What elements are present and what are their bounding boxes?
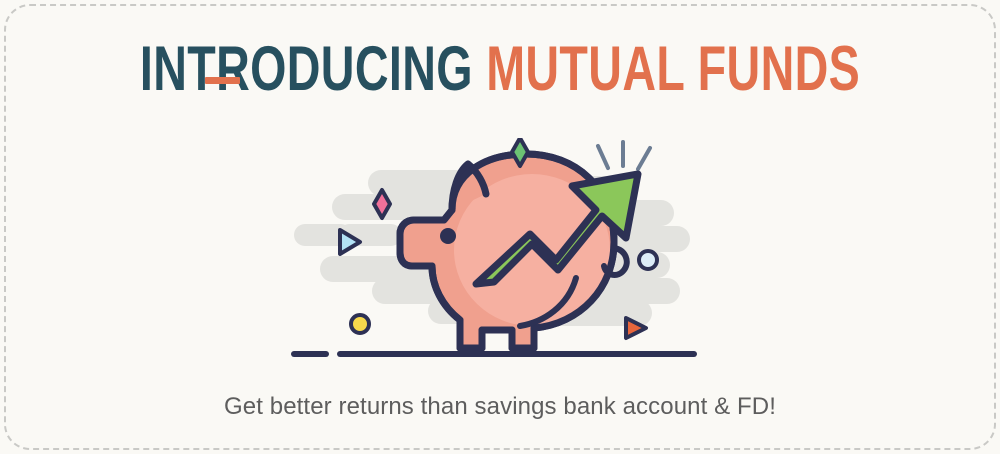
piggy-bank-illustration bbox=[276, 138, 724, 370]
mutual-funds-banner-card: INTRODUCINGMUTUAL FUNDS bbox=[0, 0, 1000, 454]
yellow-circle-icon bbox=[351, 315, 369, 333]
headline-block: INTRODUCINGMUTUAL FUNDS bbox=[0, 38, 1000, 101]
pig-eye bbox=[440, 228, 456, 244]
lightblue-circle-icon bbox=[639, 251, 657, 269]
speed-lines-icon bbox=[598, 142, 650, 169]
headline-word-mutual-funds: MUTUAL FUNDS bbox=[486, 34, 860, 104]
headline-word-introducing: INTRODUCING bbox=[140, 34, 473, 104]
page-title: INTRODUCINGMUTUAL FUNDS bbox=[130, 38, 870, 101]
headline-underline-dash bbox=[205, 77, 240, 84]
subtitle-text: Get better returns than savings bank acc… bbox=[0, 393, 1000, 421]
